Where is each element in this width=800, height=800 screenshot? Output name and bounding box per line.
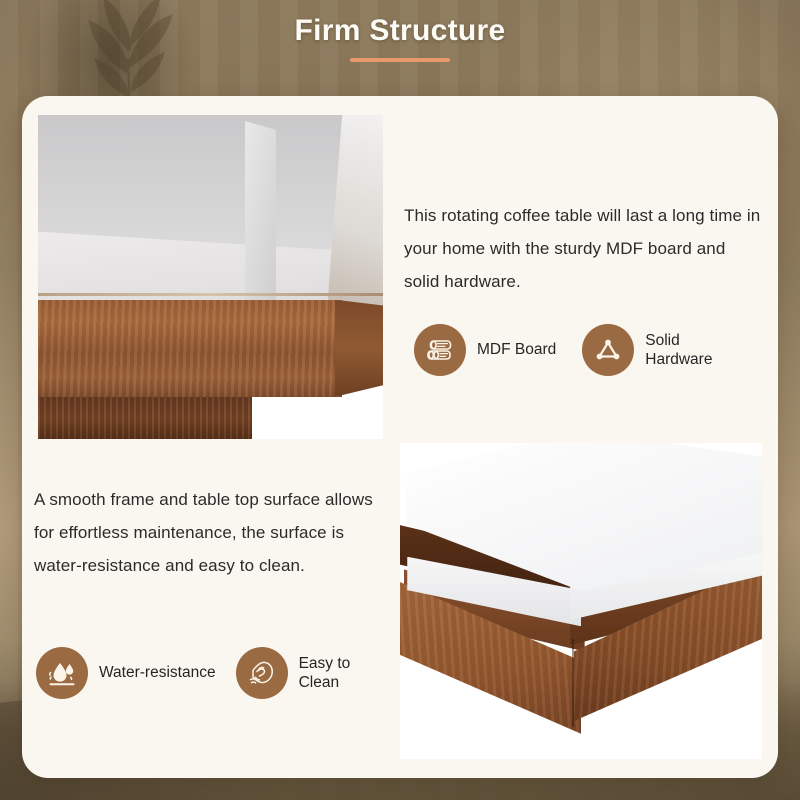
- photo-walnut-side-panel: [335, 300, 383, 397]
- title-underline-accent: [350, 58, 450, 62]
- feature-badge-solid-hardware: Solid Hardware: [582, 324, 712, 376]
- top-description-text: This rotating coffee table will last a l…: [404, 199, 764, 298]
- feature-label-easy-to-clean: Easy to Clean: [299, 654, 351, 693]
- photo-top-edge-line: [38, 293, 383, 296]
- product-photo-table-corner: [400, 443, 762, 759]
- bottom-description-text: A smooth frame and table top surface all…: [34, 483, 394, 582]
- photo-divider-wall: [245, 121, 276, 311]
- bottom-feature-badges: Water-resistance Easy to Clean: [36, 647, 350, 699]
- feature-label-mdf-board: MDF Board: [477, 340, 556, 359]
- top-feature-badges: MDF Board Solid Hardware: [414, 324, 712, 376]
- feature-label-water-resistance: Water-resistance: [99, 663, 216, 682]
- water-drop-icon: [36, 647, 88, 699]
- feature-badge-water-resistance: Water-resistance: [36, 647, 216, 699]
- page-title: Firm Structure: [295, 14, 506, 48]
- feature-badge-mdf-board: MDF Board: [414, 324, 556, 376]
- triangle-nodes-icon: [582, 324, 634, 376]
- photo-base-corner-seam: [572, 639, 574, 727]
- photo-walnut-front-panel: [38, 300, 342, 397]
- logs-icon: [414, 324, 466, 376]
- cleaning-hand-icon: [236, 647, 288, 699]
- feature-badge-easy-to-clean: Easy to Clean: [236, 647, 351, 699]
- page-header: Firm Structure: [0, 0, 800, 96]
- content-card: This rotating coffee table will last a l…: [22, 96, 778, 778]
- product-photo-frame-interior: [38, 115, 383, 439]
- feature-label-solid-hardware: Solid Hardware: [645, 331, 712, 370]
- photo-walnut-lower-panel: [38, 397, 252, 439]
